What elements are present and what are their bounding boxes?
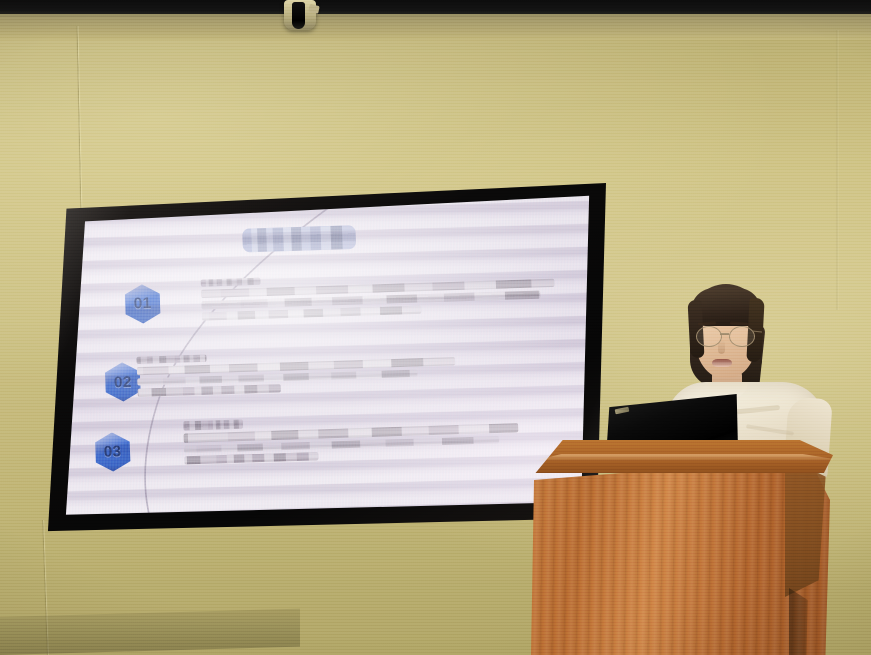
mosaic-overlay	[201, 277, 261, 286]
presentation-slide: 01 02 03	[44, 178, 606, 534]
presenter-mouth	[712, 359, 732, 367]
wall-panel-seam	[836, 30, 839, 310]
redacted-text-line	[137, 354, 207, 363]
wall-display[interactable]: 01 02 03	[44, 178, 606, 534]
ceiling-camera-icon	[281, 0, 319, 36]
redacted-text-line	[184, 452, 319, 464]
mosaic-overlay	[137, 354, 207, 363]
ceiling-camera-lens	[292, 2, 305, 29]
mosaic-overlay	[242, 225, 356, 253]
display-panel: 01 02 03	[44, 178, 606, 534]
presentation-scene: 01 02 03	[0, 0, 871, 655]
mosaic-overlay	[184, 452, 319, 464]
presenter-nose	[718, 340, 725, 354]
podium-edge-highlight	[531, 454, 833, 461]
ceiling-face	[0, 14, 871, 40]
glasses-lens-right	[729, 326, 755, 347]
mosaic-overlay	[138, 384, 281, 397]
step-marker-01: 01	[124, 284, 160, 324]
step-marker-02: 02	[105, 362, 141, 402]
slide-text-block-02	[137, 346, 457, 399]
redacted-text-line	[183, 419, 244, 430]
glasses-bridge	[720, 333, 729, 335]
redacted-text-line	[201, 277, 261, 286]
step-marker-03: 03	[94, 432, 130, 472]
slide-text-block-03	[183, 410, 520, 467]
slide-title-redacted	[242, 225, 356, 253]
slide-text-block-01	[201, 268, 556, 323]
podium	[531, 440, 833, 655]
glasses-icon	[693, 326, 759, 346]
redacted-text-line	[138, 384, 281, 397]
mosaic-overlay	[183, 419, 244, 430]
